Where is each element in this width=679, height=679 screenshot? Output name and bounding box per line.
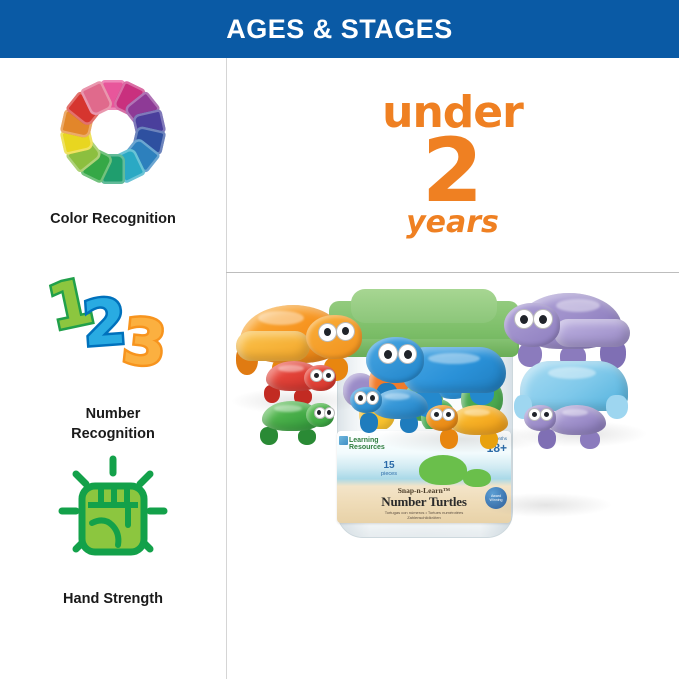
feature-label-color-line1: Color Recognition [0, 210, 226, 230]
label-turtle-large [419, 455, 467, 485]
feature-number-recognition: 1 2 3 Number Recognition [0, 263, 226, 444]
feature-label-strength-line1: Hand Strength [0, 590, 226, 610]
feature-hand-strength: Hand Strength [0, 448, 226, 610]
feature-label-strength: Hand Strength [0, 590, 226, 610]
feature-color-recognition: Color Recognition [0, 68, 226, 230]
header-banner: AGES & STAGES [0, 0, 679, 58]
age-block: under 2 years [226, 58, 679, 272]
piece-count: 15 pieces [367, 461, 411, 478]
product-subtitle: Tortugas con números • Tortues numérotée… [337, 510, 511, 520]
fist-svg [54, 453, 172, 571]
feature-label-number: Number Recognition [0, 405, 226, 444]
digit-three: 3 [120, 310, 169, 376]
piece-count-number: 15 [367, 461, 411, 471]
turtle-yellow-small [426, 401, 512, 451]
age-unit: years [406, 208, 499, 238]
page-title: AGES & STAGES [226, 14, 453, 45]
turtle-green-small [252, 399, 336, 447]
feature-label-number-line2: Recognition [0, 425, 226, 445]
age-number: 2 [422, 131, 483, 212]
piece-count-word: pieces [367, 471, 411, 478]
jar-lid-top [351, 289, 497, 323]
fist-strength-icon [0, 448, 226, 576]
turtle-blue-small [350, 385, 432, 435]
feature-label-number-line1: Number [0, 405, 226, 425]
infographic-page: AGES & STAGES Color Recognition 1 2 3 [0, 0, 679, 679]
numbers-123-icon: 1 2 3 [0, 263, 226, 391]
fist-shape [82, 486, 144, 552]
product-photo: Learning Resources months 18+ 15 pieces … [226, 273, 679, 679]
fist-group [54, 453, 172, 571]
features-column: Color Recognition 1 2 3 Number Recogniti… [0, 58, 226, 679]
brand-cube-icon [339, 436, 348, 445]
turtle-purple-small [524, 401, 610, 451]
label-turtle-small [463, 469, 491, 487]
numbers-group: 1 2 3 [43, 272, 183, 382]
color-wheel-icon [0, 68, 226, 196]
product-subtitle-line2: Zahlenschildkröten [337, 515, 511, 520]
digit-two: 2 [81, 291, 128, 356]
brand-line2: Resources [349, 444, 385, 451]
feature-label-color: Color Recognition [0, 210, 226, 230]
